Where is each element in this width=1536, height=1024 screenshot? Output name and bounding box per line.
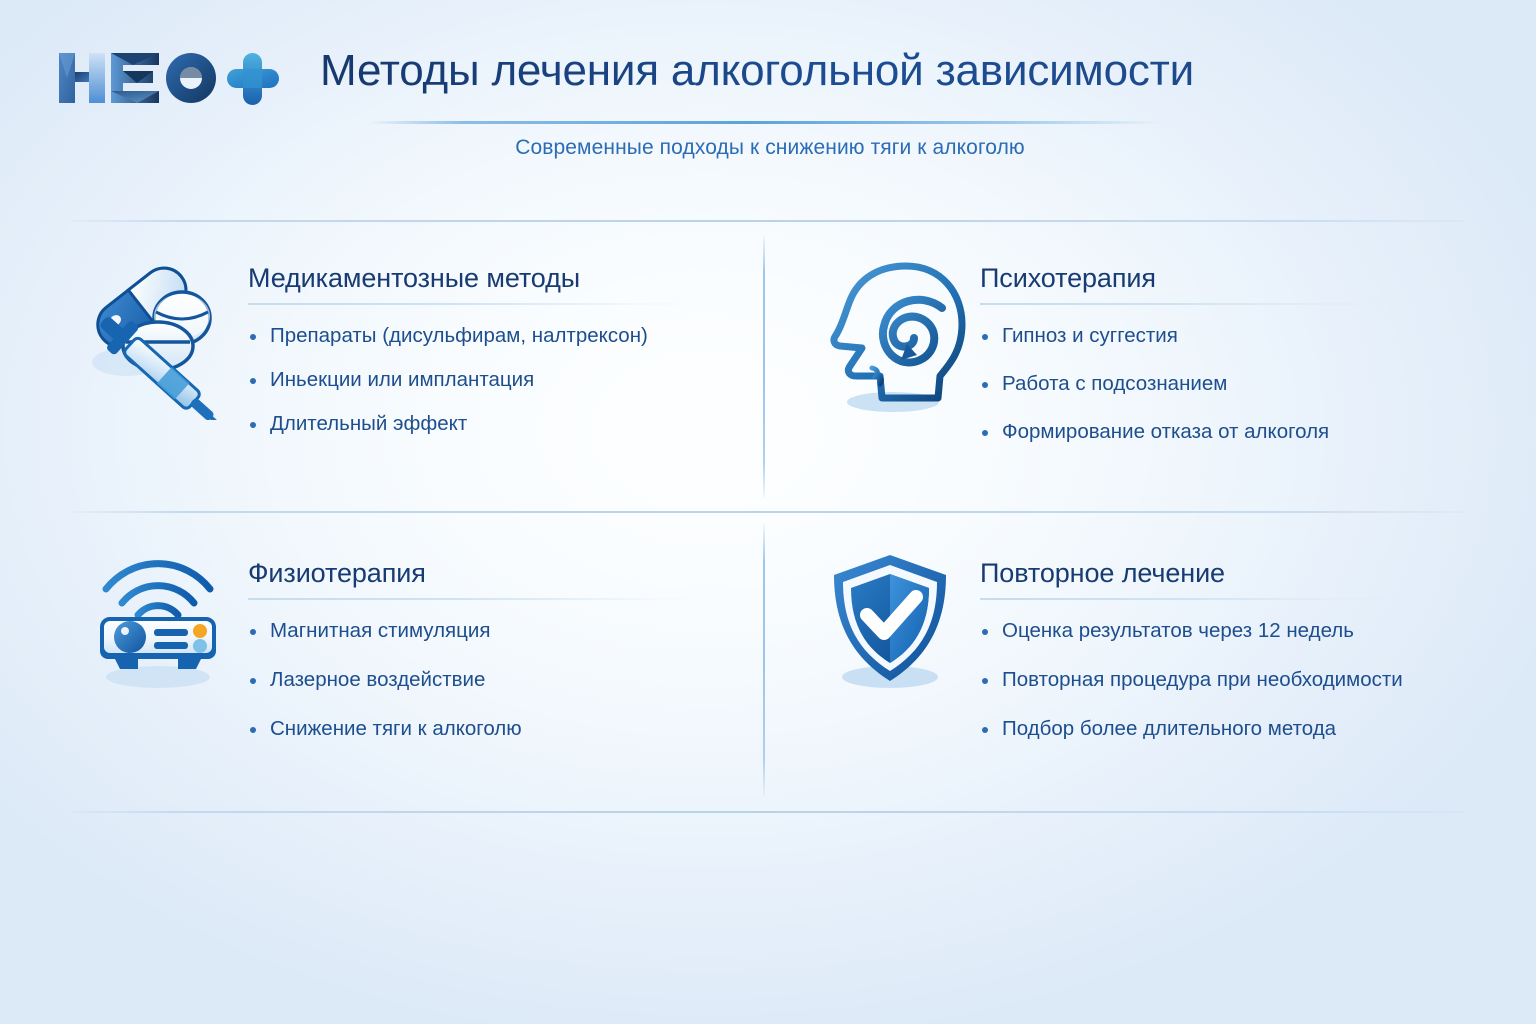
list-item: Препараты (дисульфирам, налтрексон) xyxy=(248,323,738,349)
card-title: Физиотерапия xyxy=(248,557,738,589)
card-repeat-treatment: Повторное лечение Оценка результатов чер… xyxy=(810,545,1460,764)
pills-syringe-icon xyxy=(78,250,238,420)
list-item: Гипноз и суггестия xyxy=(980,323,1460,349)
card-body: Физиотерапия Магнитная стимуляция Лазерн… xyxy=(238,545,738,764)
cards-grid: Медикаментозные методы Препараты (дисуль… xyxy=(0,0,1536,1024)
therapy-device-icon xyxy=(78,545,238,705)
card-bullet-list: Оценка результатов через 12 недель Повто… xyxy=(980,618,1460,741)
infographic-page: Методы лечения алкогольной зависимости С… xyxy=(0,0,1536,1024)
card-medication: Медикаментозные методы Препараты (дисуль… xyxy=(78,250,738,454)
card-psychotherapy: Психотерапия Гипноз и суггестия Работа с… xyxy=(810,250,1460,466)
list-item: Магнитная стимуляция xyxy=(248,618,738,644)
list-item: Работа с подсознанием xyxy=(980,371,1460,397)
card-physiotherapy: Физиотерапия Магнитная стимуляция Лазерн… xyxy=(78,545,738,764)
list-item: Повторная процедура при необходимости xyxy=(980,667,1460,693)
card-body: Повторное лечение Оценка результатов чер… xyxy=(970,545,1460,764)
card-body: Медикаментозные методы Препараты (дисуль… xyxy=(238,250,738,454)
list-item: Подбор более длительного метода xyxy=(980,716,1460,742)
therapy-device-icon-svg xyxy=(78,545,238,705)
card-body: Психотерапия Гипноз и суггестия Работа с… xyxy=(970,250,1460,466)
list-item: Длительный эффект xyxy=(248,411,738,437)
card-title-underline xyxy=(248,303,700,305)
head-spiral-icon-svg xyxy=(810,250,970,420)
card-bullet-list: Магнитная стимуляция Лазерное воздействи… xyxy=(248,618,738,741)
list-item: Оценка результатов через 12 недель xyxy=(980,618,1460,644)
card-title-underline xyxy=(980,303,1405,305)
list-item: Лазерное воздействие xyxy=(248,667,738,693)
list-item: Формирование отказа от алкоголя xyxy=(980,419,1460,445)
card-bullet-list: Препараты (дисульфирам, налтрексон) Инье… xyxy=(248,323,738,436)
list-item: Снижение тяги к алкоголю xyxy=(248,716,738,742)
card-title-underline xyxy=(980,598,1405,600)
pills-syringe-icon-svg xyxy=(78,250,238,420)
card-title-underline xyxy=(248,598,700,600)
list-item: Иньекции или имплантация xyxy=(248,367,738,393)
shield-check-icon-svg xyxy=(810,545,970,705)
card-title: Психотерапия xyxy=(980,262,1460,294)
card-title: Повторное лечение xyxy=(980,557,1460,589)
shield-check-icon xyxy=(810,545,970,705)
card-bullet-list: Гипноз и суггестия Работа с подсознанием… xyxy=(980,323,1460,444)
card-title: Медикаментозные методы xyxy=(248,262,738,294)
head-spiral-icon xyxy=(810,250,970,420)
